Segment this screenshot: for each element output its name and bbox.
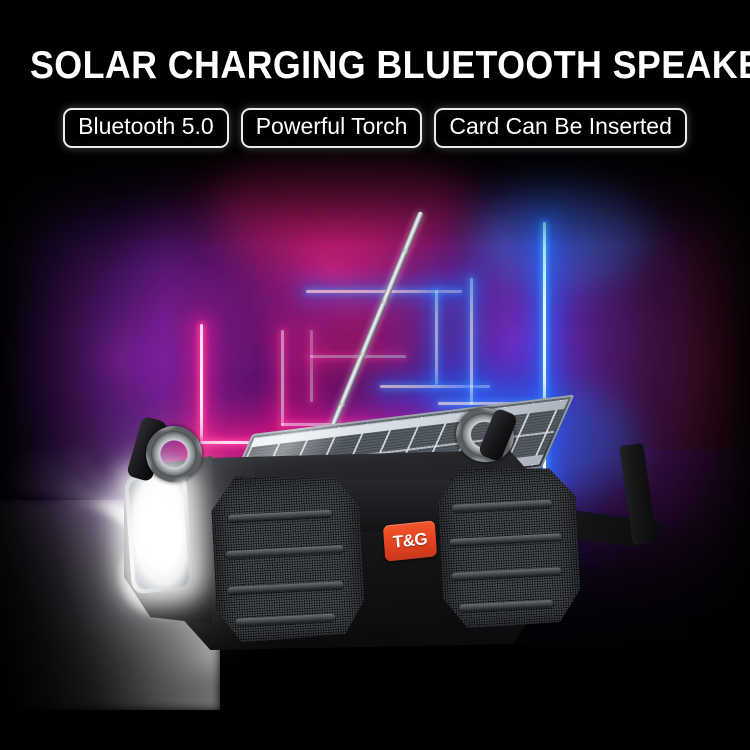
header: SOLAR CHARGING BLUETOOTH SPEAKER Bluetoo… [0, 0, 750, 160]
grille-ridge [450, 533, 562, 546]
antenna-joint [337, 401, 346, 408]
antenna-joint [358, 351, 367, 358]
antenna-joint [379, 299, 388, 306]
feature-badge-card[interactable]: Card Can Be Inserted [434, 108, 686, 148]
antenna-joint [401, 247, 410, 254]
grille-ridge [228, 510, 332, 522]
product-drop-shadow [150, 650, 580, 730]
page-title: SOLAR CHARGING BLUETOOTH SPEAKER [30, 46, 720, 85]
grille-ridge [226, 545, 344, 558]
led-torch-lens [128, 476, 190, 589]
grille-ridge [227, 581, 343, 594]
feature-badge-torch[interactable]: Powerful Torch [241, 108, 423, 148]
feature-badge-bluetooth[interactable]: Bluetooth 5.0 [63, 108, 229, 148]
speaker-grille-left [210, 470, 366, 644]
feature-badge-list: Bluetooth 5.0 Powerful Torch Card Can Be… [0, 108, 750, 148]
brand-logo-text: T&G [392, 529, 428, 553]
grille-ridge [459, 600, 553, 612]
product-banner: T&G SOLAR CHARGING BLUETOOTH SPEAKER Blu… [0, 0, 750, 750]
brand-logo-badge: T&G [383, 520, 437, 561]
grille-ridge [235, 614, 335, 626]
grille-ridge [452, 500, 552, 512]
speaker-grille-right [436, 462, 582, 629]
grille-ridge [451, 567, 561, 580]
